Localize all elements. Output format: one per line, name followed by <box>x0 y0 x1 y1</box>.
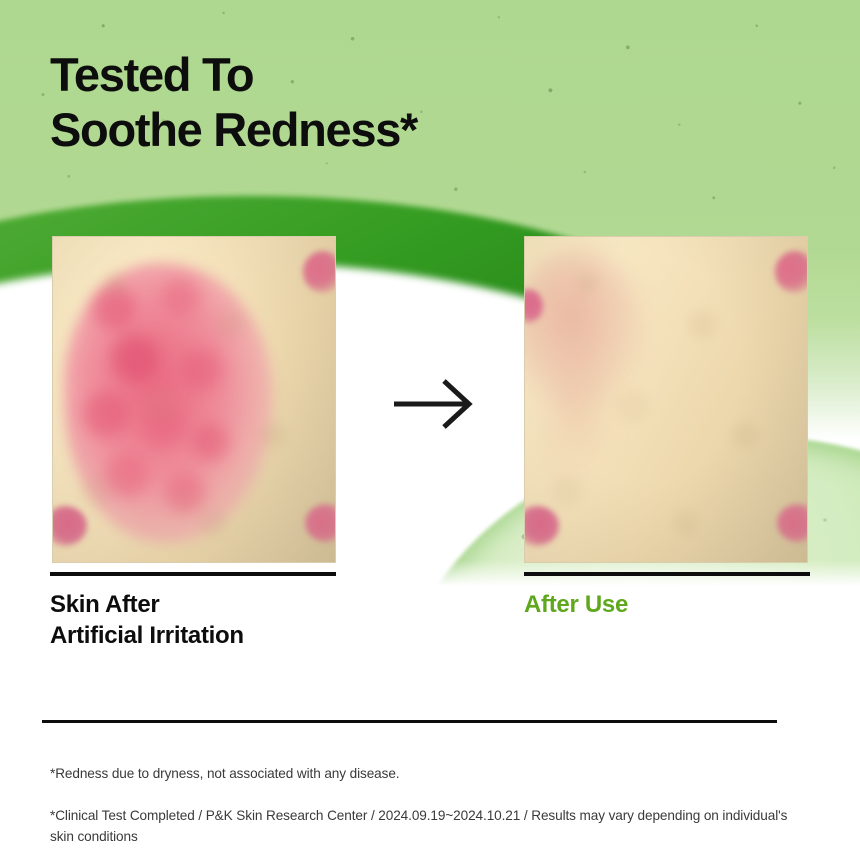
after-photo <box>524 236 808 563</box>
footnote-divider <box>42 720 777 723</box>
after-caption-rule <box>524 572 810 576</box>
after-caption-block: After Use <box>524 572 810 621</box>
before-caption-label: Skin After Artificial Irritation <box>50 590 336 651</box>
footnote-line-2: *Clinical Test Completed / P&K Skin Rese… <box>50 805 810 847</box>
footnote-block: *Redness due to dryness, not associated … <box>50 742 810 860</box>
after-photo-vignette <box>525 237 807 562</box>
before-caption-rule <box>50 572 336 576</box>
promo-card: Tested To Soothe Redness* Skin After Art… <box>0 0 860 860</box>
page-title: Tested To Soothe Redness* <box>50 48 417 158</box>
before-photo <box>52 236 336 563</box>
arrow-right-icon <box>392 376 478 432</box>
before-caption-block: Skin After Artificial Irritation <box>50 572 336 651</box>
footnote-line-1: *Redness due to dryness, not associated … <box>50 763 810 784</box>
before-photo-vignette <box>53 237 335 562</box>
after-caption-label: After Use <box>524 590 810 621</box>
